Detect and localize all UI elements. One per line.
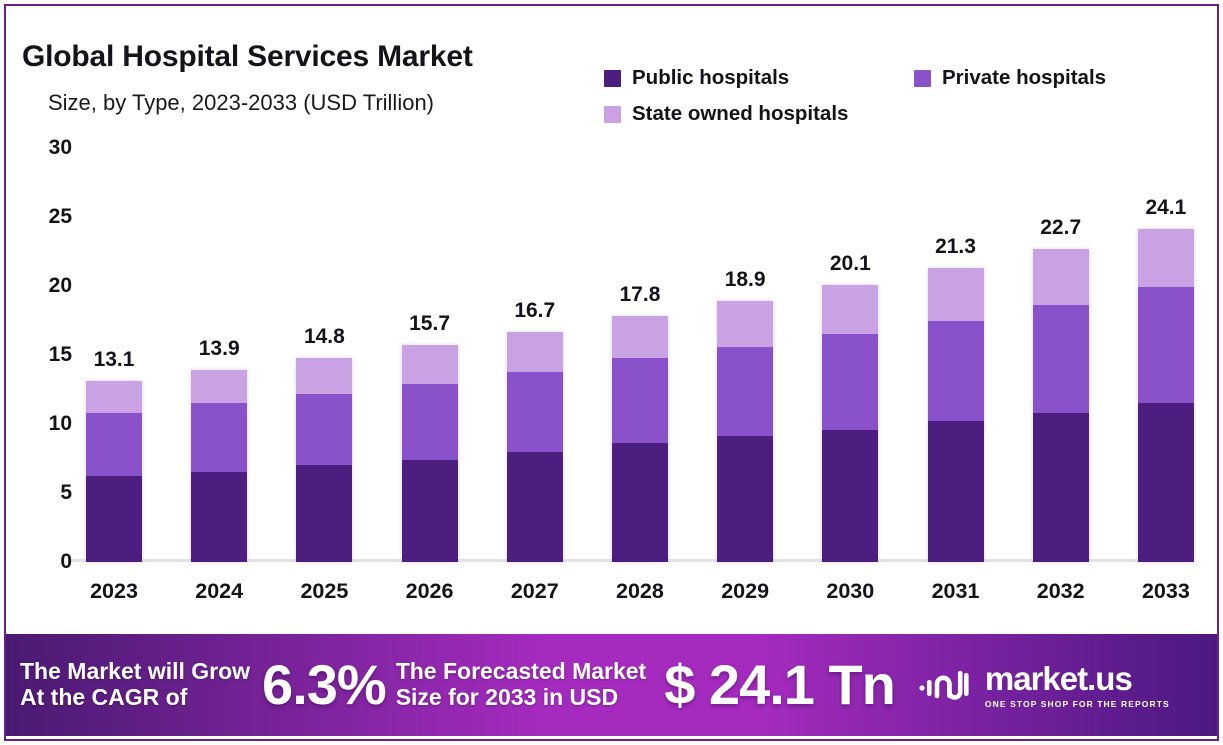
x-axis-tick-2024: 2024 [195,579,243,604]
bar-segment-state-owned-hospitals-2026[interactable] [402,345,458,384]
x-axis-tick-2028: 2028 [616,579,664,604]
bar-stack-2025[interactable] [296,358,352,562]
brand-wordmark: market.us ONE STOP SHOP FOR THE REPORTS [985,662,1170,709]
bar-total-label-2026: 15.7 [409,312,450,336]
bar-segment-private-hospitals-2026[interactable] [402,384,458,460]
bar-stack-2028[interactable] [612,316,668,562]
bar-total-label-2032: 22.7 [1040,216,1081,240]
x-axis-tick-2031: 2031 [932,579,980,604]
bar-segment-private-hospitals-2028[interactable] [612,358,668,444]
y-axis-tick-15: 15 [49,343,72,367]
page-title: Global Hospital Services Market [22,40,473,74]
bar-total-label-2028: 17.8 [620,283,661,307]
bar-segment-public-hospitals-2027[interactable] [507,452,563,562]
x-axis-tick-2025: 2025 [300,579,348,604]
chart-legend: Public hospitals Private hospitals State… [604,60,1204,132]
x-axis-tick-2029: 2029 [721,579,769,604]
bar-segment-state-owned-hospitals-2023[interactable] [86,381,142,413]
cagr-label-line2: At the CAGR of [20,685,250,711]
bar-total-label-2033: 24.1 [1145,196,1186,220]
legend-label-public: Public hospitals [632,66,789,90]
bar-segment-state-owned-hospitals-2032[interactable] [1033,249,1089,306]
bar-stack-2030[interactable] [822,285,878,562]
bar-group-2029[interactable]: 18.92029 [717,148,773,562]
bar-group-2032[interactable]: 22.72032 [1033,148,1089,562]
y-axis-tick-10: 10 [49,412,72,436]
y-axis-tick-5: 5 [60,481,72,505]
cagr-label-block: The Market will Grow At the CAGR of [20,634,250,736]
legend-item-public-hospitals[interactable]: Public hospitals [604,66,914,90]
cagr-value: 6.3% [262,657,386,713]
x-axis-tick-2033: 2033 [1142,579,1190,604]
bar-segment-private-hospitals-2032[interactable] [1033,305,1089,413]
bar-segment-state-owned-hospitals-2027[interactable] [507,332,563,372]
summary-banner: The Market will Grow At the CAGR of 6.3%… [6,634,1217,736]
bar-stack-2027[interactable] [507,332,563,562]
bar-segment-private-hospitals-2024[interactable] [191,403,247,472]
bar-segment-public-hospitals-2025[interactable] [296,465,352,562]
bar-segment-public-hospitals-2032[interactable] [1033,413,1089,562]
bar-stack-2024[interactable] [191,370,247,562]
bar-segment-private-hospitals-2027[interactable] [507,372,563,452]
legend-row-1: Public hospitals Private hospitals [604,60,1204,96]
bar-segment-private-hospitals-2030[interactable] [822,334,878,429]
bar-total-label-2024: 13.9 [199,337,240,361]
legend-swatch-public-icon [604,70,621,87]
forecast-value-block: $ 24.1 Tn [664,634,895,736]
bar-segment-private-hospitals-2023[interactable] [86,413,142,476]
bar-segment-public-hospitals-2023[interactable] [86,476,142,562]
bar-segment-state-owned-hospitals-2031[interactable] [928,268,984,320]
bar-stack-2023[interactable] [86,381,142,562]
bar-stack-2032[interactable] [1033,249,1089,562]
cagr-value-block: 6.3% [262,634,386,736]
bar-segment-public-hospitals-2030[interactable] [822,430,878,562]
x-axis-tick-2026: 2026 [406,579,454,604]
bar-segment-public-hospitals-2028[interactable] [612,443,668,562]
bar-group-2033[interactable]: 24.12033 [1138,148,1194,562]
bar-total-label-2025: 14.8 [304,325,345,349]
x-axis-tick-2032: 2032 [1037,579,1085,604]
brand-tagline: ONE STOP SHOP FOR THE REPORTS [985,699,1170,709]
bar-segment-private-hospitals-2029[interactable] [717,347,773,437]
bar-segment-public-hospitals-2024[interactable] [191,472,247,562]
bar-segment-private-hospitals-2025[interactable] [296,394,352,466]
bar-segment-state-owned-hospitals-2028[interactable] [612,316,668,357]
bar-total-label-2027: 16.7 [514,299,555,323]
bar-segment-state-owned-hospitals-2033[interactable] [1138,229,1194,287]
bar-segment-state-owned-hospitals-2029[interactable] [717,301,773,347]
bar-segment-private-hospitals-2031[interactable] [928,321,984,422]
forecast-label-block: The Forecasted Market Size for 2033 in U… [396,634,647,736]
bar-segment-public-hospitals-2029[interactable] [717,436,773,562]
bar-stack-2033[interactable] [1138,229,1194,562]
x-axis-tick-2027: 2027 [511,579,559,604]
page-subtitle: Size, by Type, 2023-2033 (USD Trillion) [48,90,434,116]
legend-row-2: State owned hospitals [604,96,1204,132]
forecast-label-line2: Size for 2033 in USD [396,685,647,711]
bar-segment-private-hospitals-2033[interactable] [1138,287,1194,403]
chart-plot-area: 051015202530 13.1202313.9202414.8202515.… [86,148,1194,562]
bar-group-2025[interactable]: 14.82025 [296,148,352,562]
forecast-label-line1: The Forecasted Market [396,659,647,685]
legend-label-private: Private hospitals [942,66,1106,90]
y-axis-tick-25: 25 [49,205,72,229]
cagr-label-line1: The Market will Grow [20,659,250,685]
bar-stack-2029[interactable] [717,301,773,562]
bar-group-2024[interactable]: 13.92024 [191,148,247,562]
legend-label-state: State owned hospitals [632,102,848,126]
bar-group-2028[interactable]: 17.82028 [612,148,668,562]
bar-series-container: 13.1202313.9202414.8202515.7202616.72027… [86,148,1194,562]
legend-item-private-hospitals[interactable]: Private hospitals [914,66,1106,90]
x-axis-tick-2030: 2030 [826,579,874,604]
brand-logo[interactable]: market.us ONE STOP SHOP FOR THE REPORTS [917,634,1170,736]
bar-total-label-2030: 20.1 [830,252,871,276]
bar-segment-state-owned-hospitals-2030[interactable] [822,285,878,335]
bar-segment-state-owned-hospitals-2025[interactable] [296,358,352,394]
bar-group-2023[interactable]: 13.12023 [86,148,142,562]
legend-swatch-private-icon [914,70,931,87]
bar-group-2027[interactable]: 16.72027 [507,148,563,562]
bar-group-2026[interactable]: 15.72026 [402,148,458,562]
y-axis-tick-20: 20 [49,274,72,298]
y-axis-tick-0: 0 [60,550,72,574]
legend-swatch-state-icon [604,106,621,123]
infographic-root: Global Hospital Services Market Size, by… [0,0,1223,745]
bar-group-2031[interactable]: 21.32031 [928,148,984,562]
market-us-logo-icon [917,663,973,708]
bar-total-label-2023: 13.1 [94,348,135,372]
legend-item-state-owned-hospitals[interactable]: State owned hospitals [604,102,914,126]
bar-stack-2031[interactable] [928,268,984,562]
bar-total-label-2029: 18.9 [725,268,766,292]
bar-stack-2026[interactable] [402,345,458,562]
bar-segment-public-hospitals-2033[interactable] [1138,403,1194,562]
brand-name: market.us [985,662,1170,695]
y-axis-tick-30: 30 [49,136,72,160]
bar-group-2030[interactable]: 20.12030 [822,148,878,562]
bar-segment-public-hospitals-2026[interactable] [402,460,458,562]
bar-total-label-2031: 21.3 [935,235,976,259]
forecast-value: $ 24.1 Tn [664,657,895,713]
bar-segment-state-owned-hospitals-2024[interactable] [191,370,247,403]
x-axis-tick-2023: 2023 [90,579,138,604]
bar-segment-public-hospitals-2031[interactable] [928,421,984,562]
